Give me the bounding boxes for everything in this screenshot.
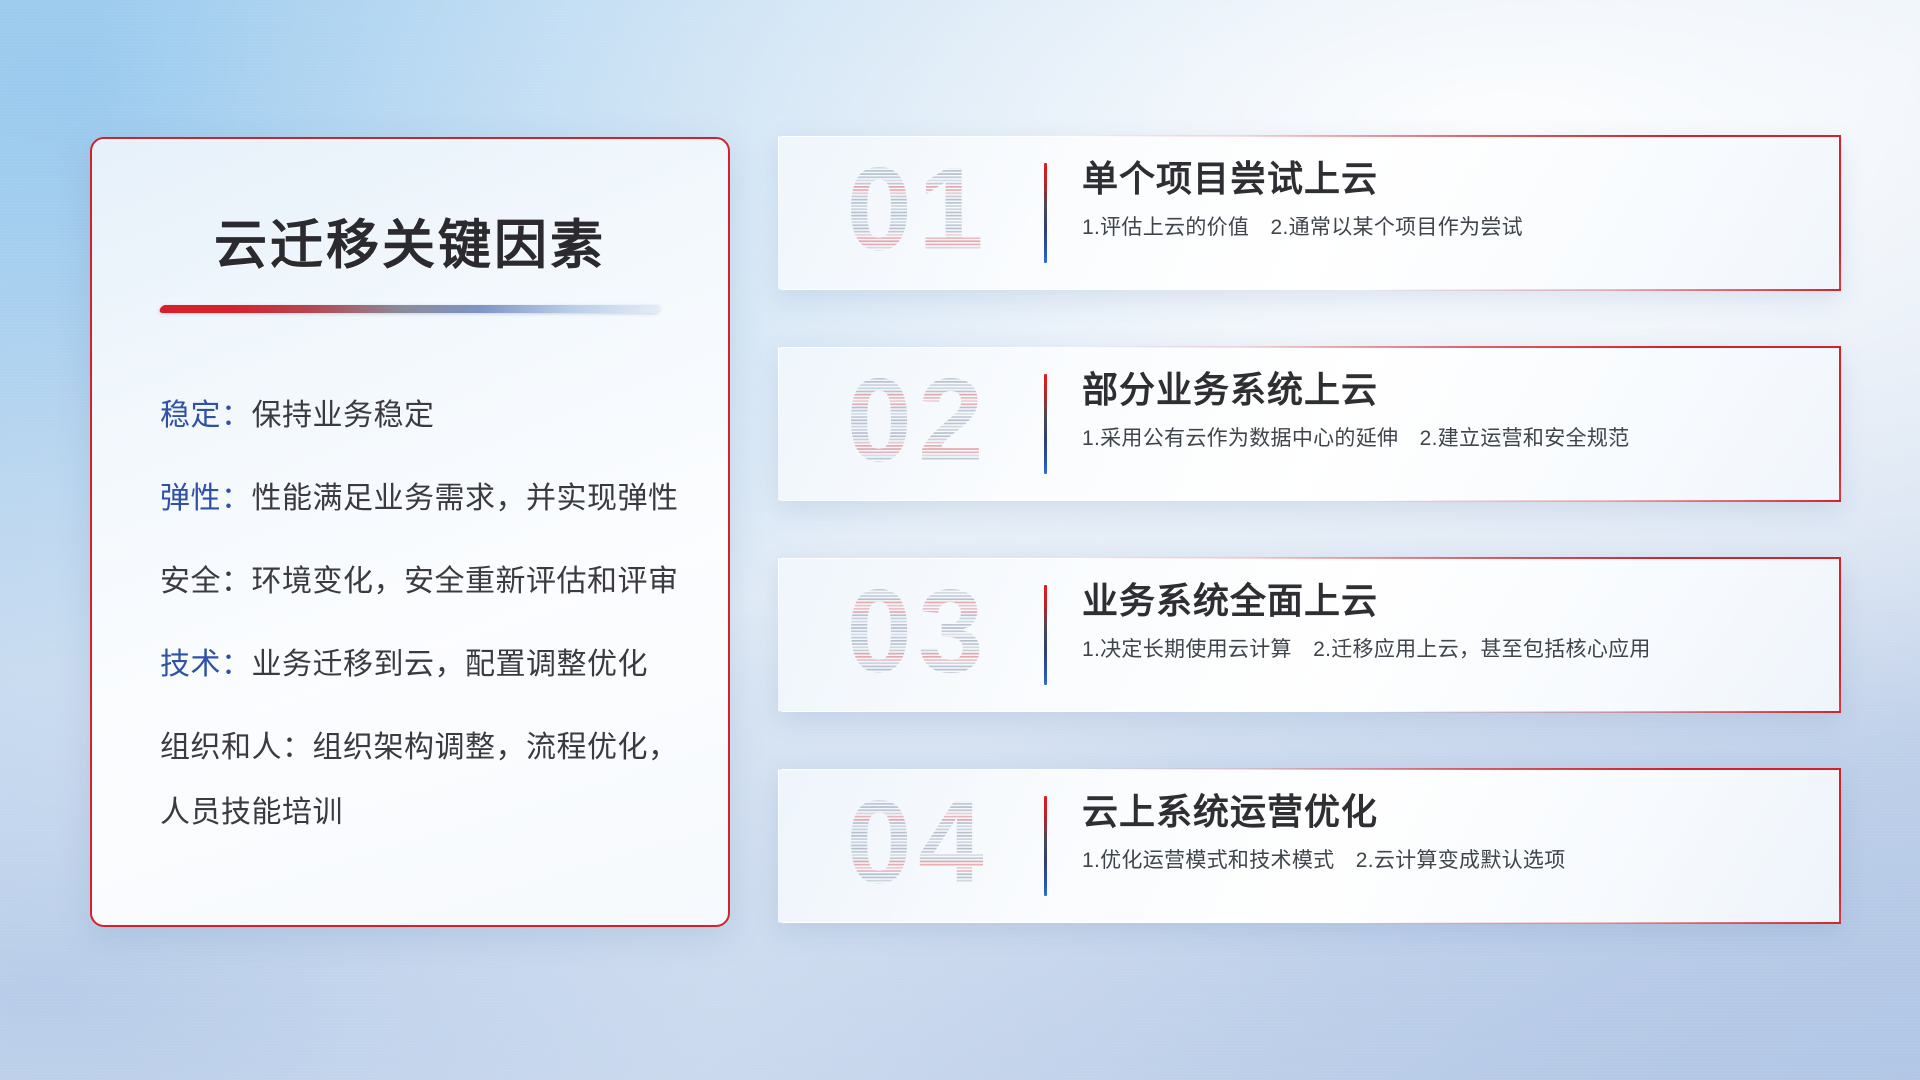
key-factor-label: 弹性： (160, 482, 252, 515)
key-factor-label: 安全： (160, 565, 252, 598)
card-left-highlight-edge (778, 136, 779, 290)
key-factor-value: 业务迁移到云，配置调整优化 (252, 648, 649, 681)
card-bottom-accent-edge (778, 500, 1841, 502)
key-factor-row: 人员技能培训 (160, 798, 682, 828)
key-factors-panel-inner: 云迁移关键因素 稳定：保持业务稳定弹性：性能满足业务需求，并实现弹性安全：环境变… (92, 139, 728, 925)
card-bottom-accent-edge (778, 289, 1841, 291)
key-factor-label: 技术： (160, 648, 252, 681)
stage-card-body: 部分业务系统上云1.采用公有云作为数据中心的延伸 2.建立运营和安全规范 (1082, 367, 1800, 452)
stage-card-02[interactable]: 02部分业务系统上云1.采用公有云作为数据中心的延伸 2.建立运营和安全规范 (778, 347, 1840, 501)
key-factor-row: 弹性：性能满足业务需求，并实现弹性 (160, 484, 682, 514)
stage-card-body: 单个项目尝试上云1.评估上云的价值 2.通常以某个项目作为尝试 (1082, 156, 1800, 241)
stage-description: 1.评估上云的价值 2.通常以某个项目作为尝试 (1082, 214, 1800, 241)
stage-number-glyph: 04 (818, 785, 1018, 907)
stage-title: 业务系统全面上云 (1082, 578, 1800, 623)
stage-number-glyph: 02 (818, 363, 1018, 485)
card-bottom-accent-edge (778, 711, 1841, 713)
card-right-accent-edge (1839, 768, 1841, 924)
card-top-accent-edge (778, 346, 1840, 348)
stage-title: 部分业务系统上云 (1082, 367, 1800, 412)
key-factor-value: 性能满足业务需求，并实现弹性 (252, 482, 679, 515)
key-factor-value: 环境变化，安全重新评估和评审 (252, 565, 679, 598)
cloud-migration-stages: 01单个项目尝试上云1.评估上云的价值 2.通常以某个项目作为尝试02部分业务系… (778, 136, 1840, 923)
card-left-highlight-edge (778, 769, 779, 923)
card-top-accent-edge (778, 557, 1840, 559)
stage-description: 1.优化运营模式和技术模式 2.云计算变成默认选项 (1082, 847, 1800, 874)
slide-stage: 云迁移关键因素 稳定：保持业务稳定弹性：性能满足业务需求，并实现弹性安全：环境变… (0, 0, 1920, 1080)
key-factor-row: 稳定：保持业务稳定 (160, 401, 682, 431)
page-title: 云迁移关键因素 (138, 203, 682, 279)
key-factor-label: 组织和人： (160, 731, 313, 764)
card-top-accent-edge (778, 768, 1840, 770)
stage-description: 1.决定长期使用云计算 2.迁移应用上云，甚至包括核心应用 (1082, 636, 1800, 663)
stage-title: 云上系统运营优化 (1082, 789, 1800, 834)
stage-card-04[interactable]: 04云上系统运营优化1.优化运营模式和技术模式 2.云计算变成默认选项 (778, 769, 1840, 923)
stage-card-body: 业务系统全面上云1.决定长期使用云计算 2.迁移应用上云，甚至包括核心应用 (1082, 578, 1800, 663)
key-factor-row: 技术：业务迁移到云，配置调整优化 (160, 650, 682, 680)
stage-accent-divider (1044, 374, 1047, 474)
key-factor-row: 安全：环境变化，安全重新评估和评审 (160, 567, 682, 597)
stage-number-glyph: 03 (818, 574, 1018, 696)
key-factor-value: 组织架构调整，流程优化， (313, 731, 679, 764)
stage-card-03[interactable]: 03业务系统全面上云1.决定长期使用云计算 2.迁移应用上云，甚至包括核心应用 (778, 558, 1840, 712)
card-left-highlight-edge (778, 558, 779, 712)
stage-description: 1.采用公有云作为数据中心的延伸 2.建立运营和安全规范 (1082, 425, 1800, 452)
card-right-accent-edge (1839, 135, 1841, 291)
stage-accent-divider (1044, 585, 1047, 685)
stage-card-01[interactable]: 01单个项目尝试上云1.评估上云的价值 2.通常以某个项目作为尝试 (778, 136, 1840, 290)
stage-accent-divider (1044, 163, 1047, 263)
card-bottom-accent-edge (778, 922, 1841, 924)
stage-card-body: 云上系统运营优化1.优化运营模式和技术模式 2.云计算变成默认选项 (1082, 789, 1800, 874)
title-underline-rule (158, 305, 661, 313)
card-right-accent-edge (1839, 557, 1841, 713)
key-factors-list: 稳定：保持业务稳定弹性：性能满足业务需求，并实现弹性安全：环境变化，安全重新评估… (138, 401, 682, 828)
key-factor-row: 组织和人：组织架构调整，流程优化， (160, 733, 682, 763)
card-right-accent-edge (1839, 346, 1841, 502)
card-top-accent-edge (778, 135, 1840, 137)
key-factor-label: 稳定： (160, 399, 252, 432)
key-factor-value: 保持业务稳定 (252, 399, 435, 432)
stage-title: 单个项目尝试上云 (1082, 156, 1800, 201)
key-factors-panel: 云迁移关键因素 稳定：保持业务稳定弹性：性能满足业务需求，并实现弹性安全：环境变… (90, 137, 730, 927)
card-left-highlight-edge (778, 347, 779, 501)
stage-accent-divider (1044, 796, 1047, 896)
stage-number-glyph: 01 (818, 152, 1018, 274)
key-factor-value: 人员技能培训 (160, 796, 343, 829)
